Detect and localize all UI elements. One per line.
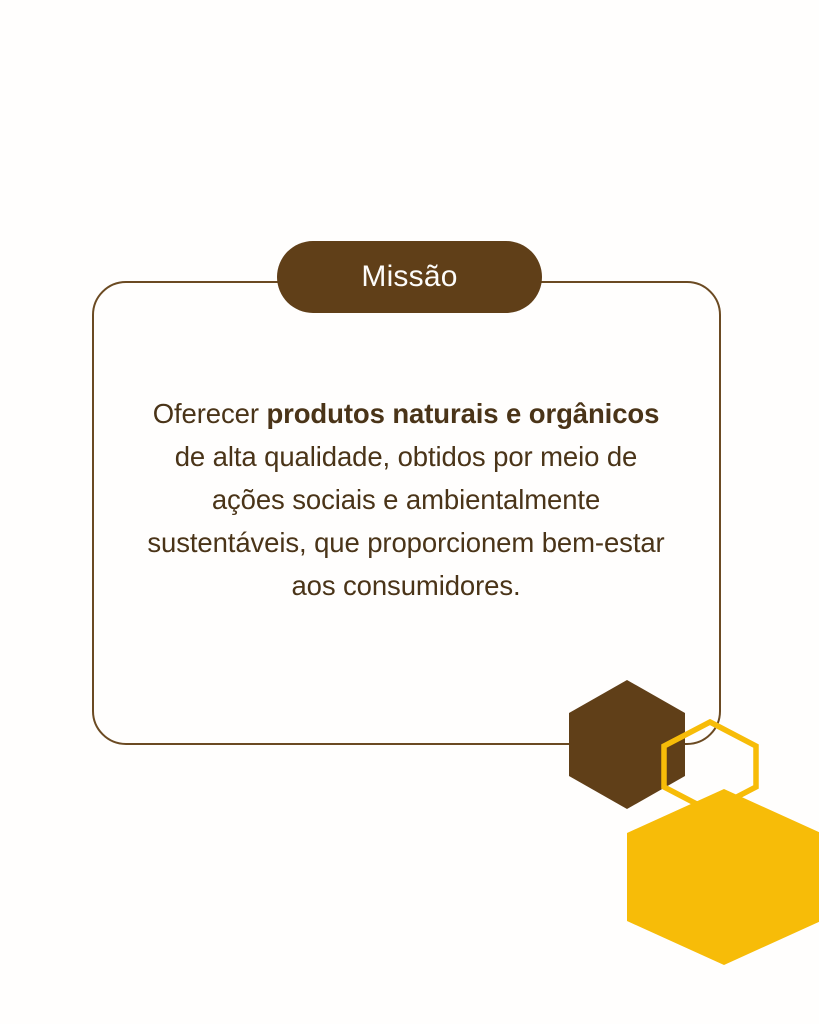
mission-text-run-2-bold: produtos naturais e orgânicos <box>266 398 659 429</box>
mission-badge-label: Missão <box>361 262 457 292</box>
mission-body-text: Oferecer produtos naturais e orgânicos d… <box>146 392 666 607</box>
mission-text-run-3: de alta qualidade, obtidos por meio de a… <box>147 441 664 601</box>
hexagon-yellow-filled-icon <box>626 788 819 966</box>
mission-badge[interactable]: Missão <box>277 241 542 313</box>
slide-canvas: Missão Oferecer produtos naturais e orgâ… <box>0 0 819 1024</box>
mission-text-run-1: Oferecer <box>153 398 267 429</box>
